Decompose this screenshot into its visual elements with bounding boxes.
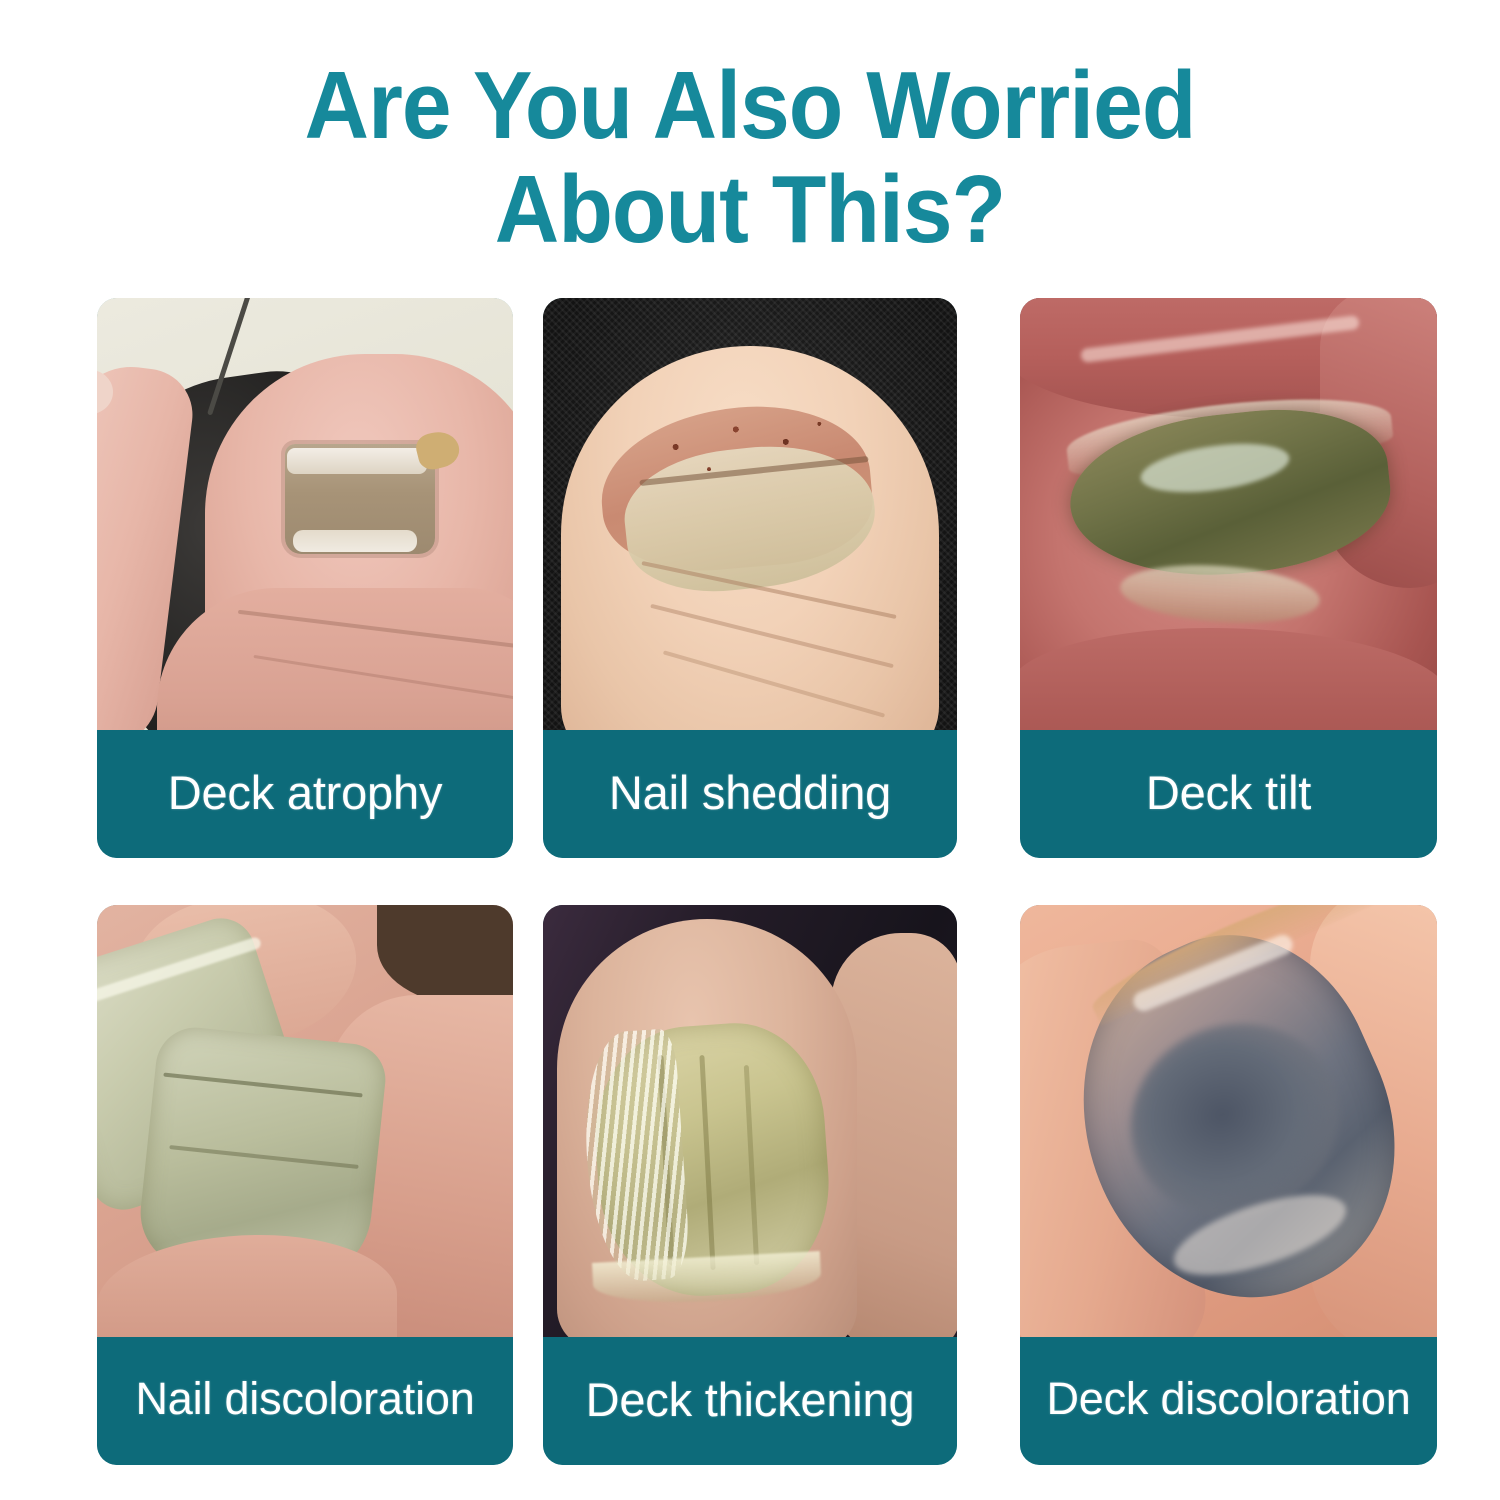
symptom-card-grid: Deck atrophy Nail shedding <box>97 298 1407 1466</box>
page-title-line-2: About This? <box>53 158 1448 262</box>
symptom-label-bar: Deck thickening <box>543 1337 957 1465</box>
page-title: Are You Also Worried About This? <box>53 54 1448 262</box>
symptom-label-bar: Deck tilt <box>1020 730 1437 858</box>
symptom-card-deck-tilt[interactable]: Deck tilt <box>1020 298 1437 858</box>
symptom-label-text: Nail discoloration <box>135 1373 474 1429</box>
symptom-photo-deck-atrophy <box>97 298 513 730</box>
symptom-label-bar: Nail shedding <box>543 730 957 858</box>
symptom-photo-deck-tilt <box>1020 298 1437 730</box>
symptom-card-deck-atrophy[interactable]: Deck atrophy <box>97 298 513 858</box>
symptom-label-text: Deck thickening <box>586 1372 915 1431</box>
symptom-label-bar: Deck atrophy <box>97 730 513 858</box>
symptom-label-text: Deck tilt <box>1146 765 1311 824</box>
symptom-card-deck-discoloration[interactable]: Deck discoloration <box>1020 905 1437 1465</box>
symptom-card-nail-discoloration[interactable]: Nail discoloration <box>97 905 513 1465</box>
symptom-label-text: Deck discoloration <box>1046 1373 1410 1429</box>
symptom-label-text: Deck atrophy <box>168 765 443 824</box>
symptom-card-deck-thickening[interactable]: Deck thickening <box>543 905 957 1465</box>
symptom-label-bar: Nail discoloration <box>97 1337 513 1465</box>
page-title-line-1: Are You Also Worried <box>53 54 1448 158</box>
symptom-photo-deck-discoloration <box>1020 905 1437 1337</box>
symptom-photo-deck-thickening <box>543 905 957 1337</box>
symptom-card-nail-shedding[interactable]: Nail shedding <box>543 298 957 858</box>
symptom-photo-nail-shedding <box>543 298 957 730</box>
symptom-label-bar: Deck discoloration <box>1020 1337 1437 1465</box>
symptom-photo-nail-discoloration <box>97 905 513 1337</box>
symptom-label-text: Nail shedding <box>609 765 891 824</box>
